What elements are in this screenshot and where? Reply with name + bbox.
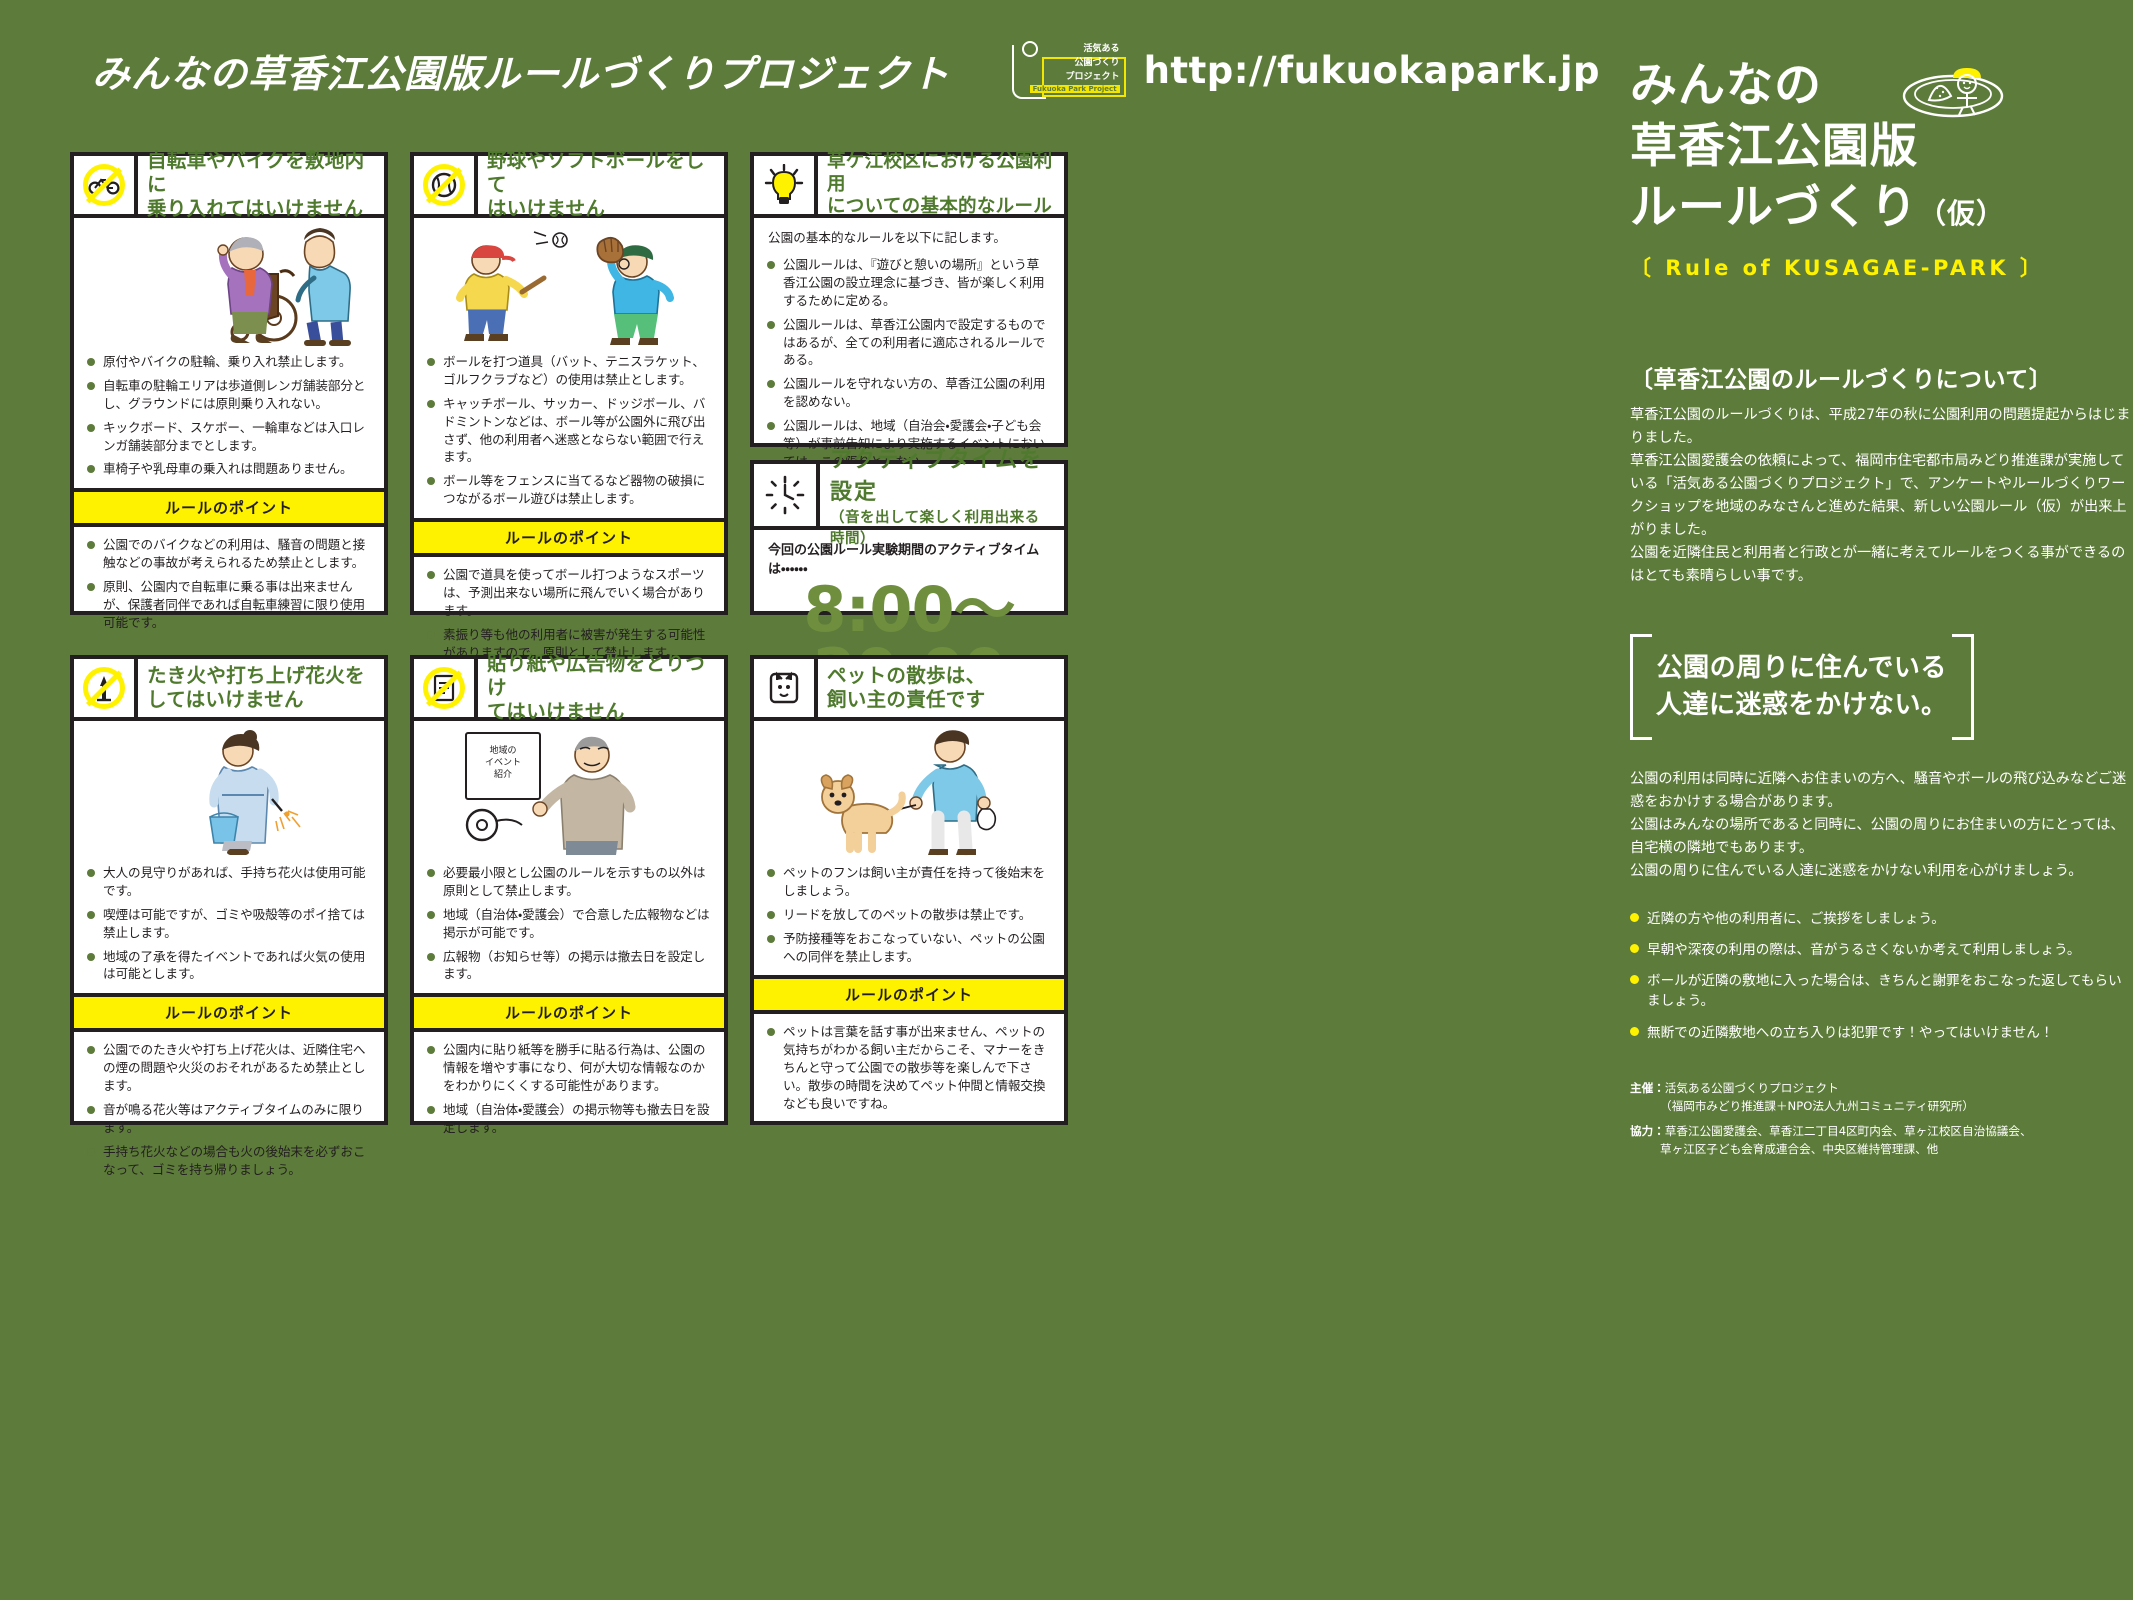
card-header: 野球やソフトボールをして はいけません xyxy=(414,156,724,218)
card-illustration xyxy=(74,721,384,857)
baseball-players-illustration xyxy=(414,218,724,346)
rule-point-list: ペットは言葉を話す事が出来ません、ペットの気持ちがわかる飼い主だからこそ、マナー… xyxy=(754,1014,1064,1126)
card-header: たき火や打ち上げ花火を してはいけません xyxy=(74,659,384,721)
rule-point-band: ルールのポイント xyxy=(414,518,724,557)
park-mark-icon xyxy=(1897,52,2009,122)
card-header: 草ケ江校区における公園利用 についての基本的なルール xyxy=(754,156,1064,218)
page-header: みんなの草香江公園版ルールづくりプロジェクト 活気ある 公園づくり プロジェクト… xyxy=(0,0,1600,140)
card-title: 野球やソフトボールをして はいけません xyxy=(478,156,724,214)
rule-point-band: ルールのポイント xyxy=(754,975,1064,1014)
rule-list: 原付やバイクの駐輪、乗り入れ禁止します。 自転車の駐輪エリアは歩道側レンガ舗装部… xyxy=(74,346,384,488)
rule-card-no-baseball: 野球やソフトボールをして はいけません xyxy=(410,152,728,615)
clock-icon xyxy=(754,464,820,526)
quote-bracket-right xyxy=(1952,634,1974,740)
woman-with-sparkler-illustration xyxy=(74,721,384,857)
rule-card-no-bicycle: 自転車やバイクを敷地内に 乗り入れてはいけません xyxy=(70,152,388,615)
card-title: 草ケ江校区における公園利用 についての基本的なルール xyxy=(818,156,1064,214)
credit-row: 主催：活気ある公園づくりプロジェクト xyxy=(1630,1079,2133,1098)
lightbulb-icon xyxy=(754,156,818,214)
rule-item: 地域（自治体・愛護会）で合意した広報物などは掲示が可能です。 xyxy=(427,906,711,942)
credit-label: 協力： xyxy=(1630,1124,1665,1138)
quote-box: 公園の周りに住んでいる 人達に迷惑をかけない。 xyxy=(1630,634,1974,740)
rule-item: 自転車の駐輪エリアは歩道側レンガ舗装部分とし、グラウンドには原則乗り入れない。 xyxy=(87,377,371,413)
no-posting-icon xyxy=(414,659,478,717)
poster-title-line-3-main: ルールづくり xyxy=(1630,180,1918,235)
about-heading: 〔草香江公園のルールづくりについて〕 xyxy=(1630,360,2133,394)
credit-row: （福岡市みどり推進課＋NPO法人九州コミュニティ研究所） xyxy=(1630,1097,2133,1116)
neighbor-bullet: 早朝や深夜の利用の際は、音がうるさくないか考えて利用しましょう。 xyxy=(1630,940,2133,960)
rule-item: 大人の見守りがあれば、手持ち花火は使用可能です。 xyxy=(87,864,371,900)
poster-title-line-1: みんなの xyxy=(1630,55,2133,116)
neighbor-bullet: 近隣の方や他の利用者に、ご挨拶をしましょう。 xyxy=(1630,909,2133,929)
rule-item: 予防接種等をおこなっていない、ペットの公園への同伴を禁止します。 xyxy=(767,930,1051,966)
rule-item: ボールを打つ道具（バット、テニスラケット、ゴルフクラブなど）の使用は禁止とします… xyxy=(427,353,711,389)
rule-list: 大人の見守りがあれば、手持ち花火は使用可能です。 喫煙は可能ですが、ゴミや吸殻等… xyxy=(74,857,384,993)
card-header: 貼り紙や広告物をとりつけ てはいけません xyxy=(414,659,724,721)
credits-block: 主催：活気ある公園づくりプロジェクト （福岡市みどり推進課＋NPO法人九州コミュ… xyxy=(1630,1079,2133,1159)
rule-point-list: 公園でのたき火や打ち上げ花火は、近隣住宅への煙の問題や火災のおそれがあるため禁止… xyxy=(74,1032,384,1192)
rule-item: 喫煙は可能ですが、ゴミや吸殻等のポイ捨ては禁止します。 xyxy=(87,906,371,942)
active-time-title: アクティブタイムを設定 xyxy=(830,442,1054,506)
point-item: 手持ち花火などの場合も火の後始末を必ずおこなって、ゴミを持ち帰りましょう。 xyxy=(87,1143,371,1179)
rule-item: キャッチボール、サッカー、ドッジボール、バドミントンなどは、ボール等が公園外に飛… xyxy=(427,395,711,467)
card-title: ペットの散歩は、 飼い主の責任です xyxy=(818,659,1064,717)
credit-value: 草ヶ江区子ども会育成連合会、中央区維持管理課、他 xyxy=(1660,1142,1938,1156)
basic-rule-item: 公園ルールは、草香江公園内で設定するものではあるが、全ての利用者に適応されるルー… xyxy=(767,316,1051,370)
poster-title-suffix: （仮） xyxy=(1918,197,2005,230)
rule-point-band: ルールのポイント xyxy=(74,993,384,1032)
credit-row: 協力：草香江公園愛護会、草香江二丁目4区町内会、草ヶ江校区自治協議会、 xyxy=(1630,1122,2133,1141)
about-body: 草香江公園のルールづくりは、平成27年の秋に公園利用の問題提起からはじまりました… xyxy=(1630,404,2133,588)
logo-line-4: Fukuoka Park Project xyxy=(1030,85,1120,93)
poster-title-line-3: ルールづくり（仮） xyxy=(1630,177,2133,238)
svg-text:イベント: イベント xyxy=(485,758,521,768)
poster-title: みんなの 草香江公園版 ルールづくり（仮） 〔 Rule of KUSAGAE-… xyxy=(1630,0,2133,282)
rule-point-list: 公園内に貼り紙等を勝手に貼る行為は、公園の情報を増やす事になり、何が大切な情報な… xyxy=(414,1032,724,1150)
rule-point-band: ルールのポイント xyxy=(74,488,384,527)
credit-label: 主催： xyxy=(1630,1081,1665,1095)
card-illustration xyxy=(414,218,724,346)
poster-title-line-2: 草香江公園版 xyxy=(1630,116,2133,177)
active-time-lead: 今回の公園ルール実験期間のアクティブタイムは・・・・・・ xyxy=(754,530,1064,577)
logo-head-shape xyxy=(1022,41,1038,57)
man-reading-notice-illustration: 地域の イベント 紹介 xyxy=(414,721,724,857)
rule-card-no-posting: 貼り紙や広告物をとりつけ てはいけません 地域の イベント 紹介 必要最小限とし… xyxy=(410,655,728,1125)
rule-card-no-bonfire: たき火や打ち上げ花火を してはいけません 大人の見守りがあれば、手持ち花火は使用… xyxy=(70,655,388,1125)
neighbor-bullet: ボールが近隣の敷地に入った場合は、きちんと謝罪をおこなった返してもらいましょう。 xyxy=(1630,971,2133,1011)
logo-line-1: 活気ある xyxy=(1084,41,1120,54)
poster-subtitle: 〔 Rule of KUSAGAE-PARK 〕 xyxy=(1630,252,2133,282)
park-mark-glyph xyxy=(1897,52,2009,122)
point-item: ペットは言葉を話す事が出来ません、ペットの気持ちがわかる飼い主だからこそ、マナー… xyxy=(767,1023,1051,1112)
rule-item: ボール等をフェンスに当てるなど器物の破損につながるボール遊びは禁止します。 xyxy=(427,472,711,508)
basic-rule-item: 公園ルールは、『遊びと憩いの場所』という草香江公園の設立理念に基づき、皆が楽しく… xyxy=(767,256,1051,310)
rule-item: ペットのフンは飼い主が責任を持って後始末をしましょう。 xyxy=(767,864,1051,900)
man-walking-dog-illustration xyxy=(754,721,1064,857)
point-item: 音が鳴る花火等はアクティブタイムのみに限ります。 xyxy=(87,1101,371,1137)
rule-point-list: 公園でのバイクなどの利用は、騒音の問題と接触などの事故が考えられるため禁止としま… xyxy=(74,527,384,645)
project-logo-icon: 活気ある 公園づくり プロジェクト Fukuoka Park Project xyxy=(1008,37,1126,103)
point-item: 公園でのバイクなどの利用は、騒音の問題と接触などの事故が考えられるため禁止としま… xyxy=(87,536,371,572)
card-illustration xyxy=(74,218,384,346)
point-item: 原則、公園内で自転車に乗る事は出来ませんが、保護者同伴であれば自転車練習に限り使… xyxy=(87,578,371,632)
rule-point-band: ルールのポイント xyxy=(414,993,724,1032)
right-panel: みんなの 草香江公園版 ルールづくり（仮） 〔 Rule of KUSAGAE-… xyxy=(1630,0,2133,1600)
neighbor-section: 公園の利用は同時に近隣へお住まいの方へ、騒音やボールの飛び込みなどご迷惑をおかけ… xyxy=(1630,768,2133,883)
logo-line-2: 公園づくり xyxy=(1075,55,1120,68)
wheelchair-and-helper-illustration xyxy=(74,218,384,346)
active-time-header: アクティブタイムを設定 （音を出して楽しく利用出来る時間） xyxy=(754,464,1064,530)
no-bicycle-icon xyxy=(74,156,138,214)
point-item: 地域（自治体・愛護会）の掲示物等も撤去日を設定します。 xyxy=(427,1101,711,1137)
clock-glyph xyxy=(763,473,807,517)
point-item: 公園でのたき火や打ち上げ花火は、近隣住宅への煙の問題や火災のおそれがあるため禁止… xyxy=(87,1041,371,1095)
credit-row: 草ヶ江区子ども会育成連合会、中央区維持管理課、他 xyxy=(1630,1140,2133,1159)
active-time-card: アクティブタイムを設定 （音を出して楽しく利用出来る時間） 今回の公園ルール実験… xyxy=(750,460,1068,615)
rule-list: ボールを打つ道具（バット、テニスラケット、ゴルフクラブなど）の使用は禁止とします… xyxy=(414,346,724,518)
neighbor-body: 公園の利用は同時に近隣へお住まいの方へ、騒音やボールの飛び込みなどご迷惑をおかけ… xyxy=(1630,768,2133,883)
card-header: 自転車やバイクを敷地内に 乗り入れてはいけません xyxy=(74,156,384,218)
rule-item: 広報物（お知らせ等）の掲示は撤去日を設定します。 xyxy=(427,948,711,984)
neighbor-bullet-list: 近隣の方や他の利用者に、ご挨拶をしましょう。 早朝や深夜の利用の際は、音がうるさ… xyxy=(1630,909,2133,1043)
credit-value: 活気ある公園づくりプロジェクト xyxy=(1665,1081,1839,1095)
point-item: 公園で道具を使ってボール打つようなスポーツは、予測出来ない場所に飛んでいく場合が… xyxy=(427,566,711,620)
pet-walk-icon xyxy=(754,659,818,717)
card-header: ペットの散歩は、 飼い主の責任です xyxy=(754,659,1064,721)
basic-rules-lead: 公園の基本的なルールを以下に記します。 xyxy=(754,218,1064,246)
card-title: たき火や打ち上げ花火を してはいけません xyxy=(138,659,384,717)
lightbulb-glyph xyxy=(764,164,804,206)
rule-item: 地域の了承を得たイベントであれば火気の使用は可能とします。 xyxy=(87,948,371,984)
credit-value: 草香江公園愛護会、草香江二丁目4区町内会、草ヶ江校区自治協議会、 xyxy=(1665,1124,2032,1138)
rule-item: 原付やバイクの駐輪、乗り入れ禁止します。 xyxy=(87,353,371,371)
dog-glyph xyxy=(764,668,804,708)
quote-bracket-left xyxy=(1630,634,1652,740)
project-url[interactable]: http://fukuokapark.jp xyxy=(1144,49,1600,92)
credit-value: （福岡市みどり推進課＋NPO法人九州コミュニティ研究所） xyxy=(1660,1099,1974,1113)
rule-card-pet-walking: ペットの散歩は、 飼い主の責任です xyxy=(750,655,1068,1125)
neighbor-bullet: 無断での近隣敷地への立ち入りは犯罪です！やってはいけません！ xyxy=(1630,1023,2133,1043)
active-time-titles: アクティブタイムを設定 （音を出して楽しく利用出来る時間） xyxy=(820,464,1064,526)
basic-rules-card: 草ケ江校区における公園利用 についての基本的なルール 公園の基本的なルールを以下… xyxy=(750,152,1068,447)
point-item: 公園内に貼り紙等を勝手に貼る行為は、公園の情報を増やす事になり、何が大切な情報な… xyxy=(427,1041,711,1095)
logo-line-3: プロジェクト xyxy=(1066,69,1120,82)
rule-item: 車椅子や乳母車の乗入れは問題ありません。 xyxy=(87,460,371,478)
rule-item: 必要最小限とし公園のルールを示すもの以外は原則として禁止します。 xyxy=(427,864,711,900)
about-section: 〔草香江公園のルールづくりについて〕 草香江公園のルールづくりは、平成27年の秋… xyxy=(1630,360,2133,588)
card-title: 貼り紙や広告物をとりつけ てはいけません xyxy=(478,659,724,717)
project-title: みんなの草香江公園版ルールづくりプロジェクト xyxy=(92,43,950,98)
svg-text:紹介: 紹介 xyxy=(494,768,512,780)
svg-text:地域の: 地域の xyxy=(489,744,516,756)
rule-item: リードを放してのペットの散歩は禁止です。 xyxy=(767,906,1051,924)
basic-rule-item: 公園ルールを守れない方の、草香江公園の利用を認めない。 xyxy=(767,375,1051,411)
card-title: 自転車やバイクを敷地内に 乗り入れてはいけません xyxy=(138,156,384,214)
card-illustration xyxy=(754,721,1064,857)
rule-list: 必要最小限とし公園のルールを示すもの以外は原則として禁止します。 地域（自治体・… xyxy=(414,857,724,993)
rule-list: ペットのフンは飼い主が責任を持って後始末をしましょう。 リードを放してのペットの… xyxy=(754,857,1064,975)
no-baseball-icon xyxy=(414,156,478,214)
quote-text: 公園の周りに住んでいる 人達に迷惑をかけない。 xyxy=(1656,650,1948,724)
no-bonfire-icon xyxy=(74,659,138,717)
rule-item: キックボード、スケボー、一輪車などは入口レンガ舗装部分までとします。 xyxy=(87,419,371,455)
card-illustration: 地域の イベント 紹介 xyxy=(414,721,724,857)
